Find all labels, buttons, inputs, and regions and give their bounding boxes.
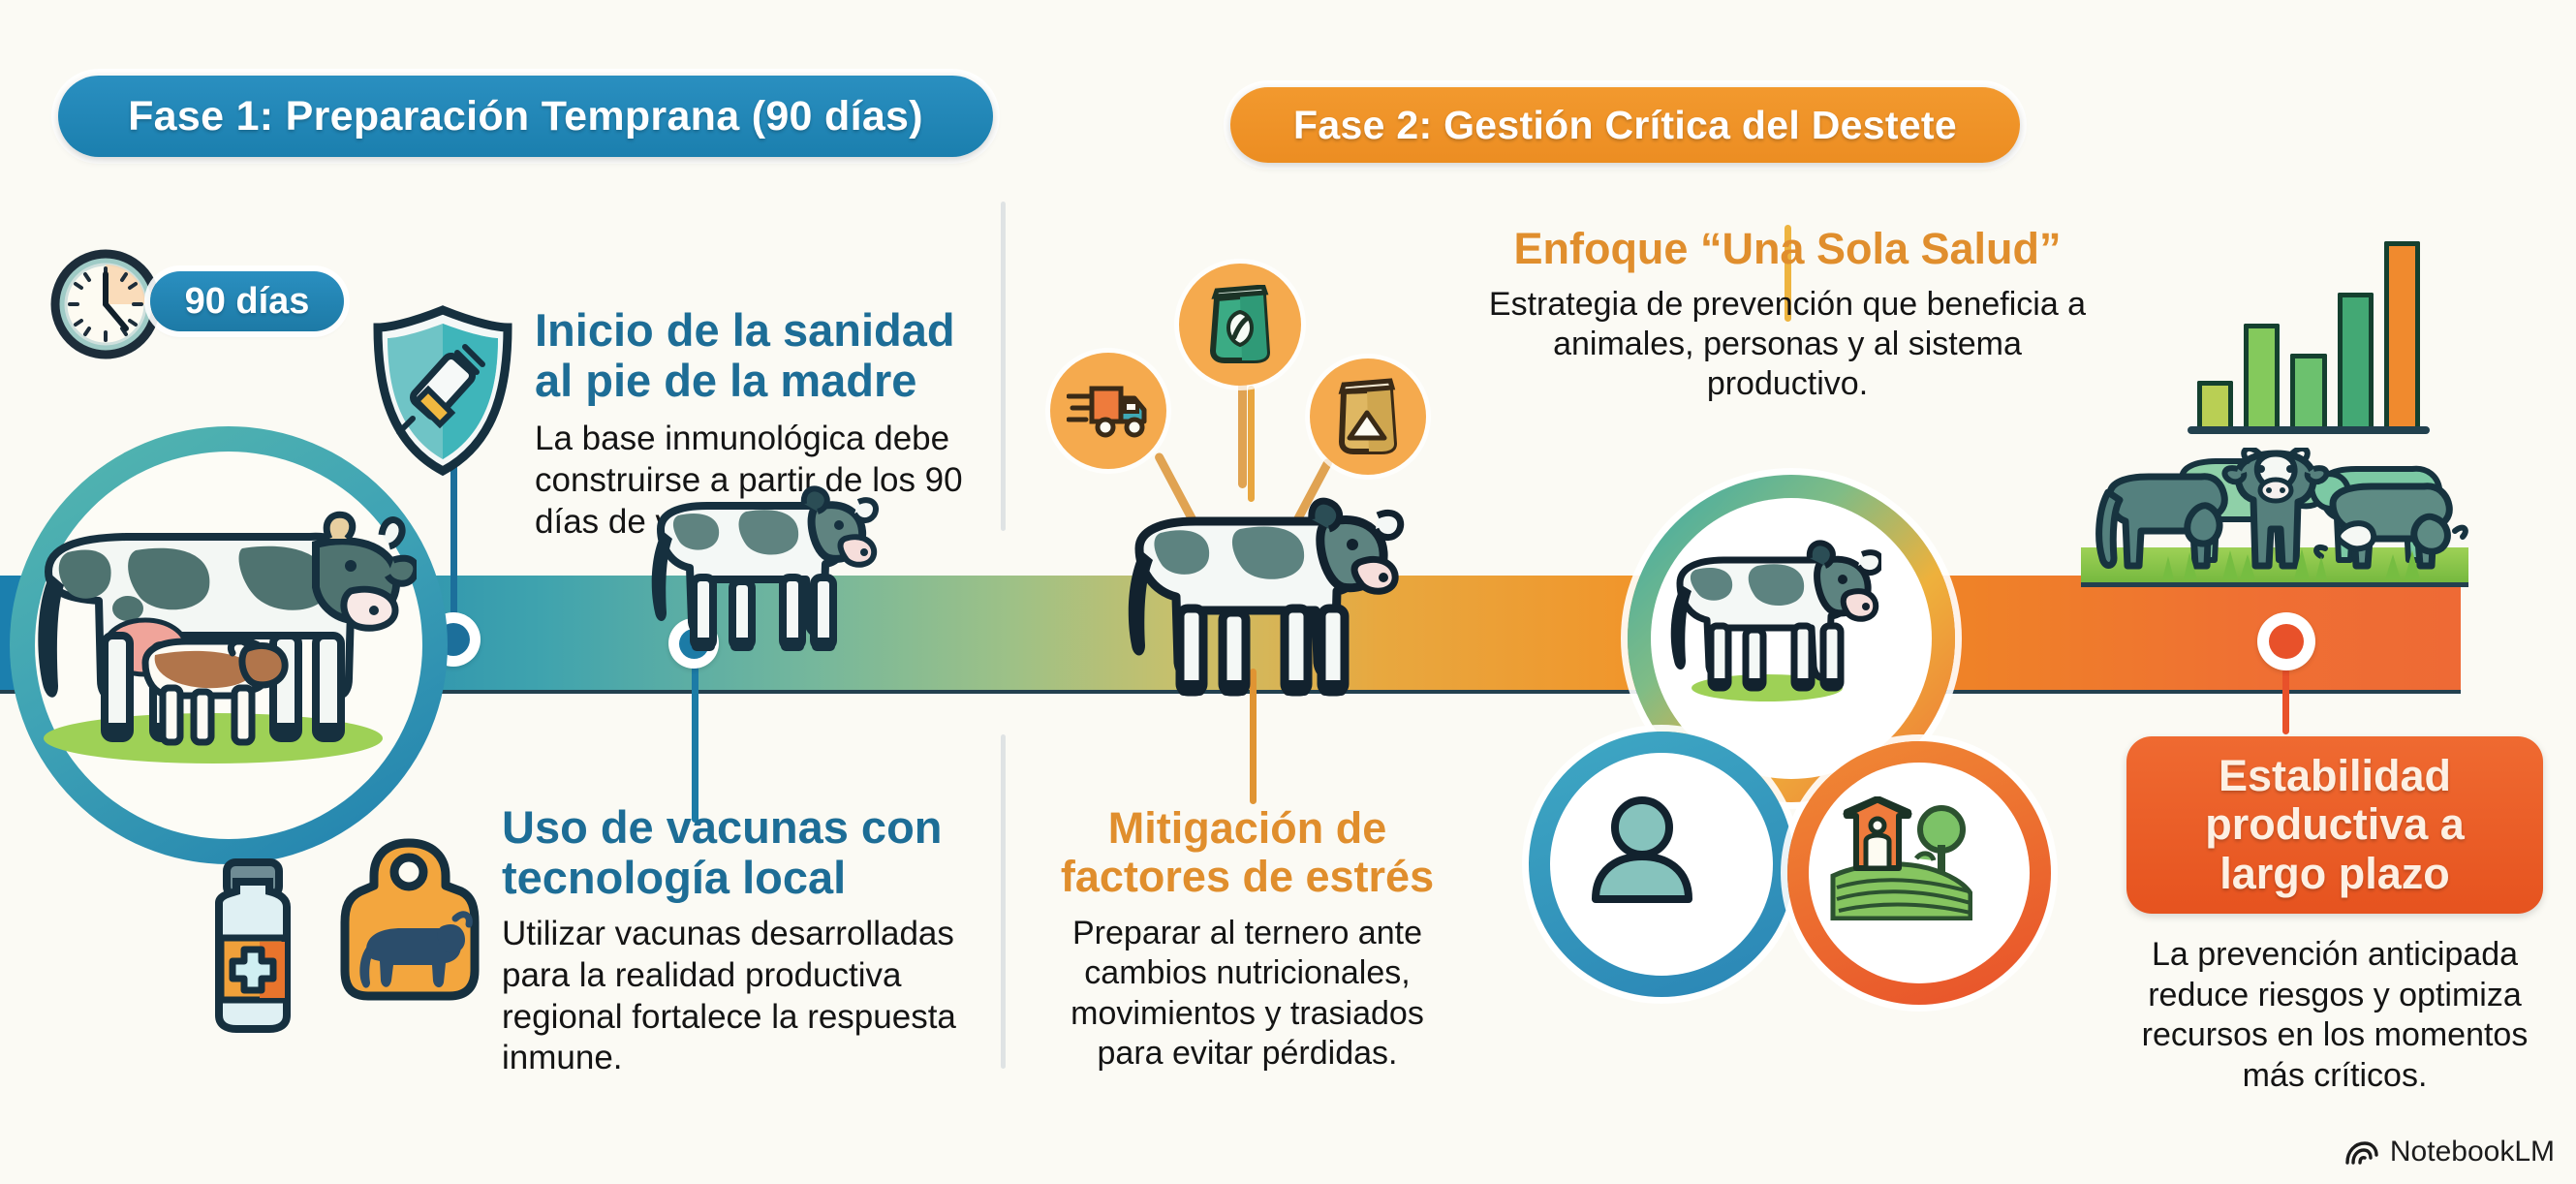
block-vacunas-body: Utilizar vacunas desarrolladas para la r… — [502, 914, 957, 1079]
section-divider-top — [1001, 202, 1006, 531]
chart-bar — [2290, 354, 2326, 426]
block-estabilidad-body: La prevención anticipada reduce riesgos … — [2126, 935, 2543, 1096]
phase-2-label: Fase 2: Gestión Crítica del Destete — [1293, 103, 1957, 148]
feed-bag-icon[interactable] — [1179, 264, 1301, 386]
block-mitigacion-body: Preparar al ternero ante cambios nutrici… — [1046, 914, 1448, 1075]
cattle-herd-icon — [2093, 448, 2470, 593]
days-badge-label: 90 días — [185, 281, 310, 323]
block-estabilidad-title[interactable]: Estabilidad productiva a largo plazo — [2126, 736, 2543, 914]
growth-bar-chart-icon — [2197, 240, 2420, 434]
chart-bar — [2244, 324, 2280, 426]
infographic-canvas: Fase 1: Preparación Temprana (90 días) F… — [0, 0, 2576, 1184]
watermark: NotebookLM — [2343, 1136, 2555, 1168]
cow-in-ring-illustration — [1659, 531, 1881, 705]
chart-baseline — [2188, 426, 2430, 434]
watermark-label: NotebookLM — [2390, 1136, 2555, 1168]
block-enfoque: Enfoque “Una Sola Salud” Estrategia de p… — [1477, 225, 2097, 405]
chart-bar — [2384, 241, 2420, 426]
phase-2-badge[interactable]: Fase 2: Gestión Crítica del Destete — [1230, 87, 2020, 163]
chart-bar — [2338, 293, 2374, 426]
chart-bar — [2197, 381, 2233, 426]
connector-vacunas — [692, 663, 698, 823]
mineral-bag-icon[interactable] — [1310, 358, 1426, 475]
stick-feedbag — [1238, 380, 1247, 488]
block-mitigacion-title: Mitigación de factores de estrés — [1046, 804, 1448, 900]
block-vacunas: Uso de vacunas con tecnología local Util… — [502, 802, 957, 1079]
calf-icon — [639, 475, 882, 659]
block-enfoque-title: Enfoque “Una Sola Salud” — [1477, 225, 2097, 273]
person-icon — [1586, 795, 1698, 903]
bar-chart-bars — [2197, 242, 2420, 426]
clock-icon — [48, 247, 163, 361]
block-vacunas-title: Uso de vacunas con tecnología local — [502, 802, 957, 902]
block-sanidad-title: Inicio de la sanidad al pie de la madre — [535, 305, 990, 405]
cattle-ear-tag-icon — [337, 835, 481, 1008]
block-enfoque-body: Estrategia de prevención que beneficia a… — [1477, 285, 2097, 405]
farm-illustration — [1829, 796, 1972, 920]
delivery-truck-icon[interactable] — [1050, 353, 1166, 469]
phase-1-label: Fase 1: Preparación Temprana (90 días) — [128, 93, 923, 140]
vaccine-vial-icon — [194, 853, 310, 1037]
block-estabilidad: Estabilidad productiva a largo plazo La … — [2126, 736, 2543, 1096]
connector-estabilidad — [2282, 669, 2289, 734]
calf-icon — [1114, 484, 1405, 707]
block-mitigacion: Mitigación de factores de estrés Prepara… — [1046, 804, 1448, 1075]
timeline-node-3[interactable] — [2257, 612, 2315, 670]
notebooklm-logo-icon — [2343, 1137, 2378, 1167]
days-badge[interactable]: 90 días — [150, 271, 344, 331]
shield-syringe-icon — [370, 302, 515, 479]
cow-nursing-calf-icon — [10, 455, 417, 775]
phase-1-badge[interactable]: Fase 1: Preparación Temprana (90 días) — [58, 76, 993, 157]
section-divider-bottom — [1001, 734, 1006, 1069]
